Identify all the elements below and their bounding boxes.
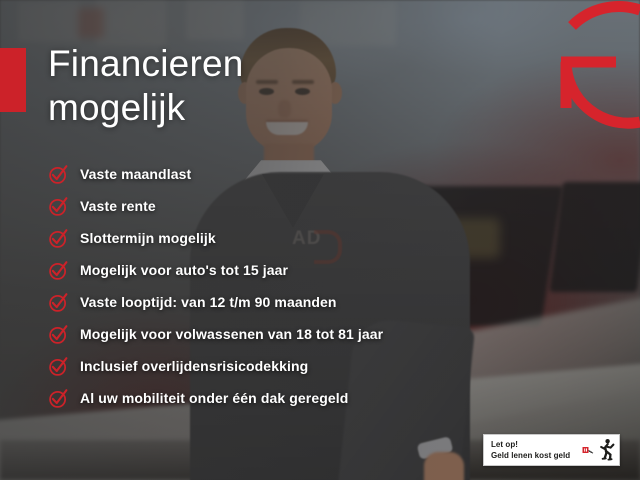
list-item: Vaste looptijd: van 12 t/m 90 maanden xyxy=(48,286,383,318)
list-item: Vaste maandlast xyxy=(48,158,383,190)
list-item-label: Al uw mobiliteit onder één dak geregeld xyxy=(80,390,348,406)
check-circle-icon xyxy=(48,324,69,345)
check-circle-icon xyxy=(48,292,69,313)
list-item: Al uw mobiliteit onder één dak geregeld xyxy=(48,382,383,414)
list-item-label: Mogelijk voor auto's tot 15 jaar xyxy=(80,262,288,278)
ball-and-chain-icon xyxy=(582,444,595,456)
afm-warning-text: Let op! Geld lenen kost geld xyxy=(491,439,582,461)
afm-warning-line2: Geld lenen kost geld xyxy=(491,450,582,461)
list-item: Slottermijn mogelijk xyxy=(48,222,383,254)
afm-credit-warning-badge: Let op! Geld lenen kost geld xyxy=(483,434,620,466)
list-item: Mogelijk voor volwassenen van 18 tot 81 … xyxy=(48,318,383,350)
feature-list: Vaste maandlast Vaste rente xyxy=(48,158,383,414)
list-item-label: Vaste rente xyxy=(80,198,156,214)
check-circle-icon xyxy=(48,228,69,249)
list-item-label: Vaste looptijd: van 12 t/m 90 maanden xyxy=(80,294,337,310)
list-item: Mogelijk voor auto's tot 15 jaar xyxy=(48,254,383,286)
list-item-label: Inclusief overlijdensrisicodekking xyxy=(80,358,308,374)
page-title: Financieren mogelijk xyxy=(48,42,244,129)
list-item-label: Vaste maandlast xyxy=(80,166,191,182)
list-item-label: Slottermijn mogelijk xyxy=(80,230,216,246)
check-circle-icon xyxy=(48,196,69,217)
running-man-icon xyxy=(596,438,615,462)
list-item: Inclusief overlijdensrisicodekking xyxy=(48,350,383,382)
check-circle-icon xyxy=(48,164,69,185)
check-circle-icon xyxy=(48,388,69,409)
list-item: Vaste rente xyxy=(48,190,383,222)
check-circle-icon xyxy=(48,356,69,377)
afm-warning-icons xyxy=(582,438,615,462)
check-circle-icon xyxy=(48,260,69,281)
banner-content: Financieren mogelijk Vaste maandlast xyxy=(0,0,640,480)
financing-promo-banner: AD Financieren mogelijk xyxy=(0,0,640,480)
afm-warning-line1: Let op! xyxy=(491,439,582,450)
list-item-label: Mogelijk voor volwassenen van 18 tot 81 … xyxy=(80,326,383,342)
